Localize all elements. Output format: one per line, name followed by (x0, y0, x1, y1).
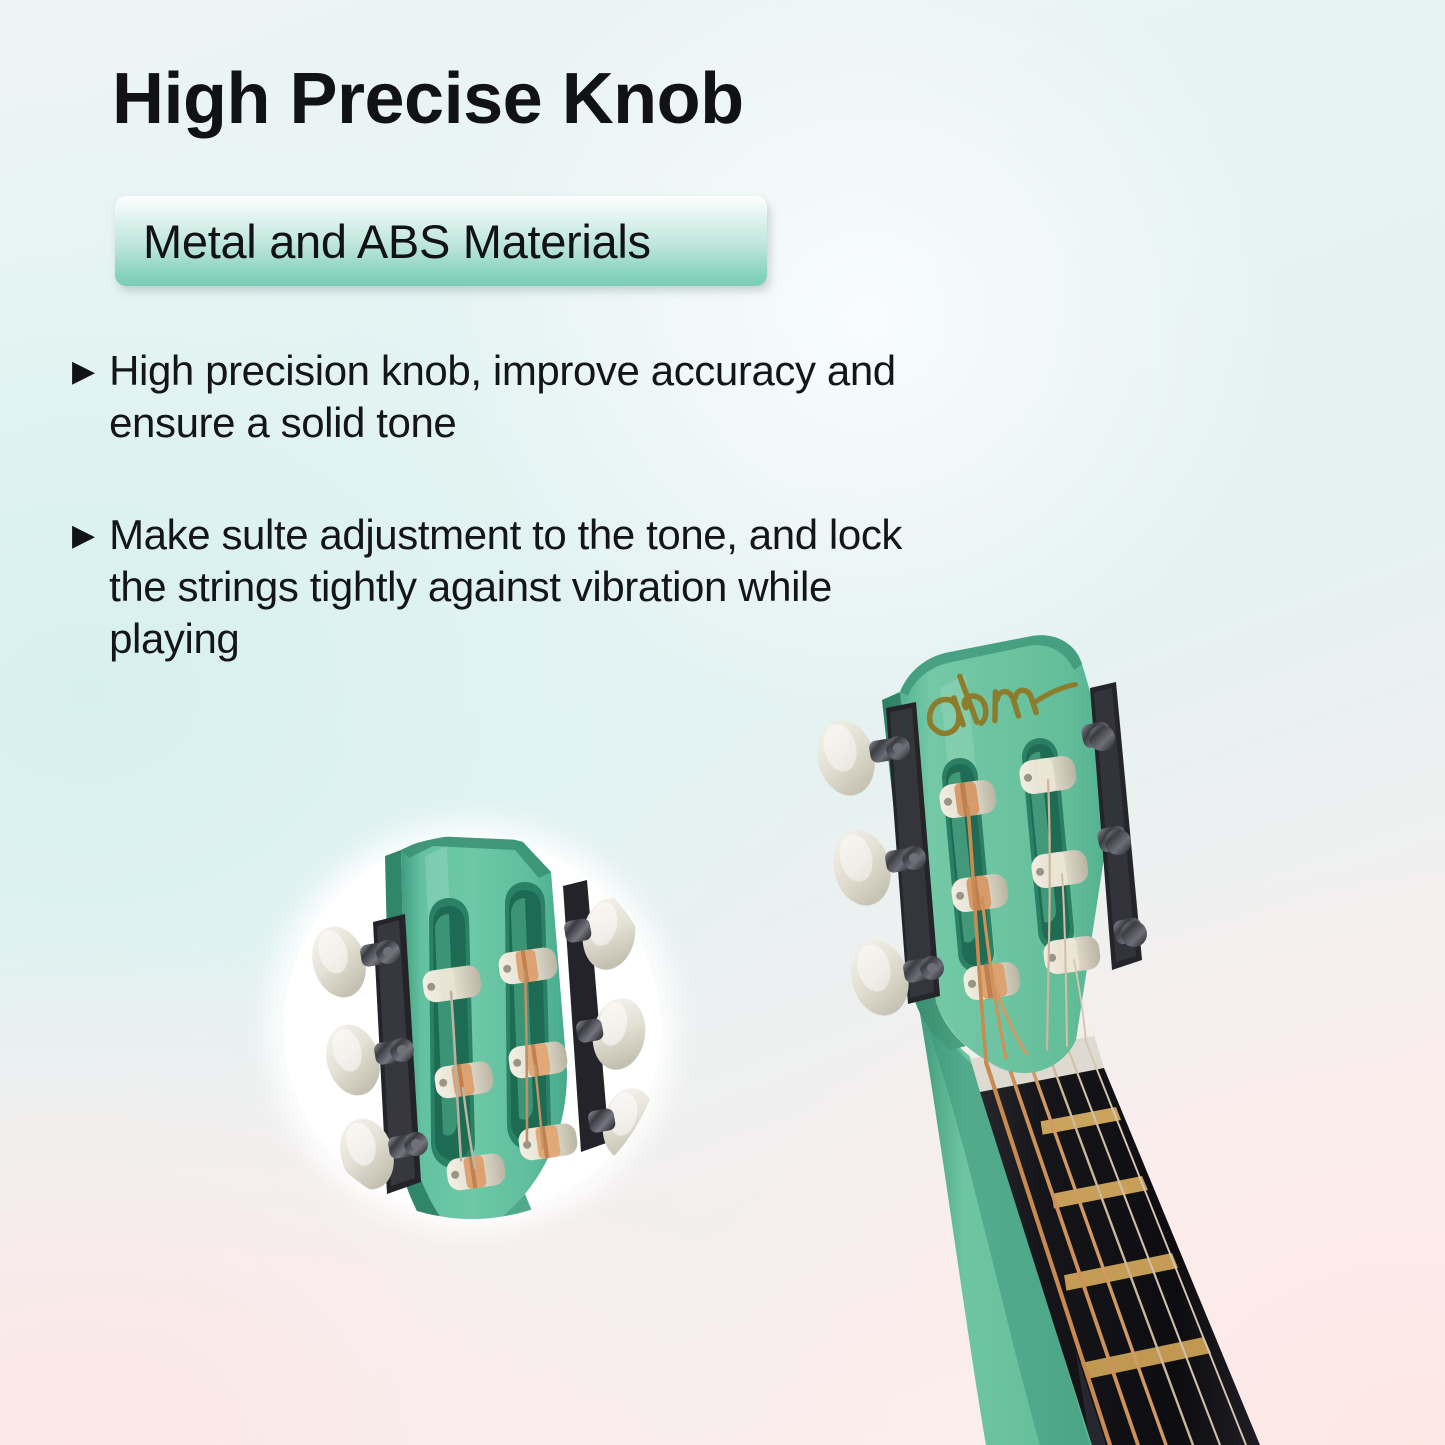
materials-badge: Metal and ABS Materials (115, 196, 767, 286)
materials-badge-label: Metal and ABS Materials (115, 214, 651, 269)
zoom-inset-detail (283, 838, 661, 1308)
page-title: High Precise Knob (112, 62, 744, 138)
inset-tuners-right (563, 880, 661, 1164)
guitar-headstock-photo (790, 630, 1445, 1445)
bullet-text: High precision knob, improve accuracy an… (109, 345, 932, 449)
list-item: ▶ High precision knob, improve accuracy … (72, 345, 932, 449)
product-infographic-poster: High Precise Knob Metal and ABS Material… (0, 0, 1445, 1445)
triangle-bullet-icon: ▶ (72, 509, 95, 563)
triangle-bullet-icon: ▶ (72, 345, 95, 399)
